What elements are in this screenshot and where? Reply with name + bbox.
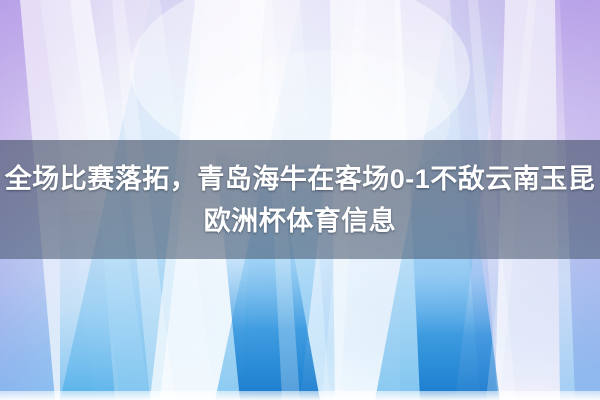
bottom-light-strip (0, 391, 600, 400)
sports-news-banner: 全场比赛落拓，青岛海牛在客场0-1不敌云南玉昆 欧洲杯体育信息 (0, 0, 600, 400)
headline-line-2: 欧洲杯体育信息 (204, 200, 397, 242)
headline-overlay-band: 全场比赛落拓，青岛海牛在客场0-1不敌云南玉昆 欧洲杯体育信息 (0, 140, 600, 259)
headline-line-1: 全场比赛落拓，青岛海牛在客场0-1不敌云南玉昆 (5, 158, 596, 200)
